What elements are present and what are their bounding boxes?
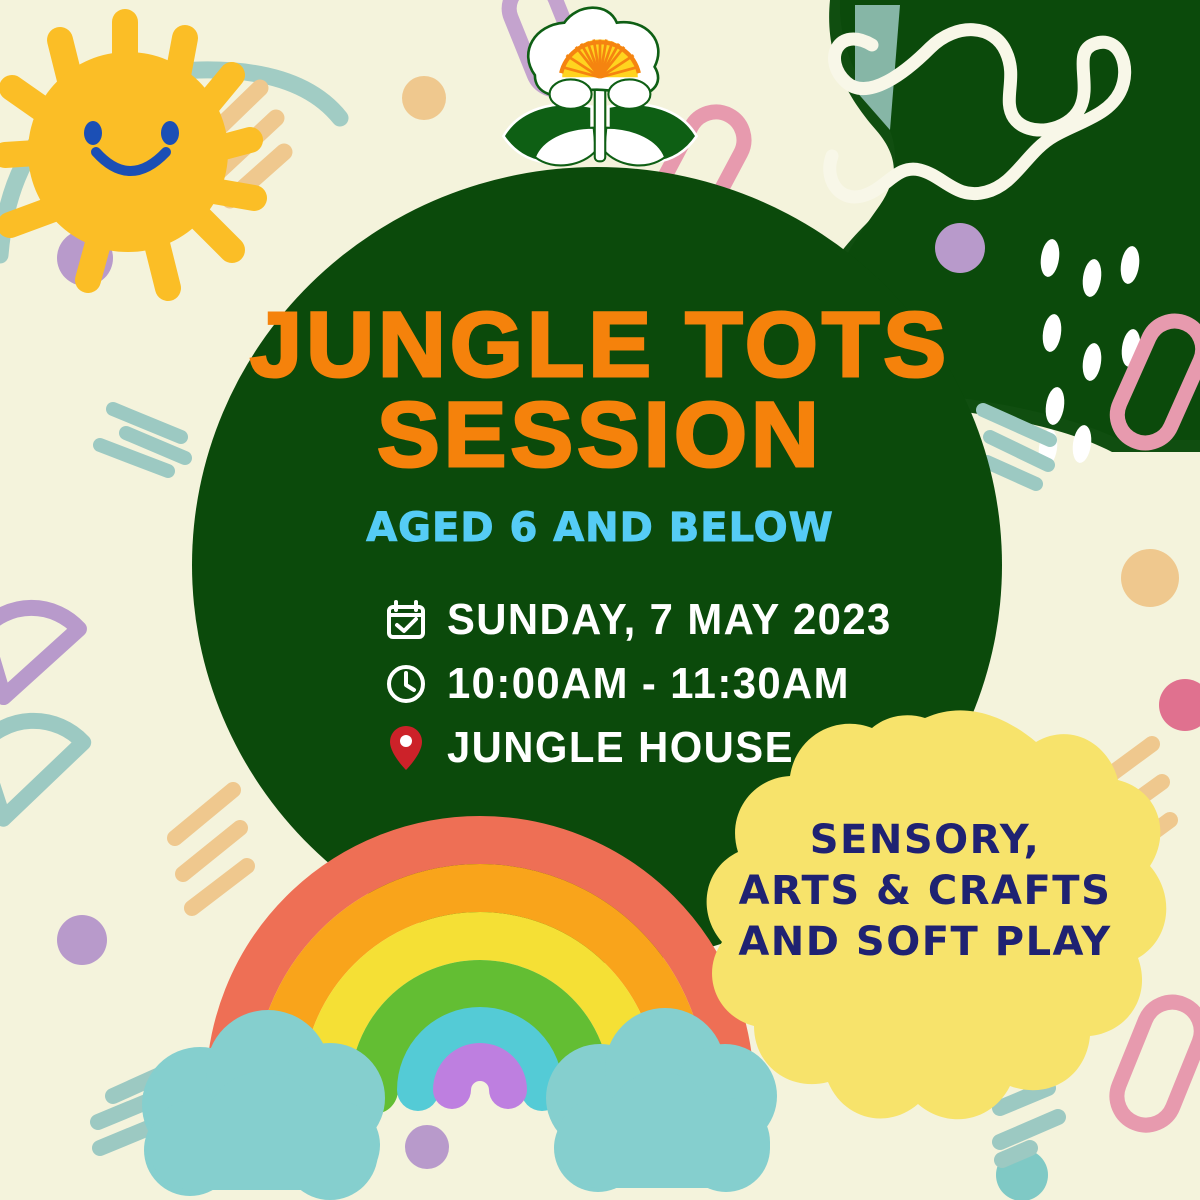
badge-blob-shape	[0, 0, 1200, 1200]
badge-blob-path	[707, 710, 1167, 1119]
poster-canvas: Jungle Tots Session Aged 6 and below Sun…	[0, 0, 1200, 1200]
